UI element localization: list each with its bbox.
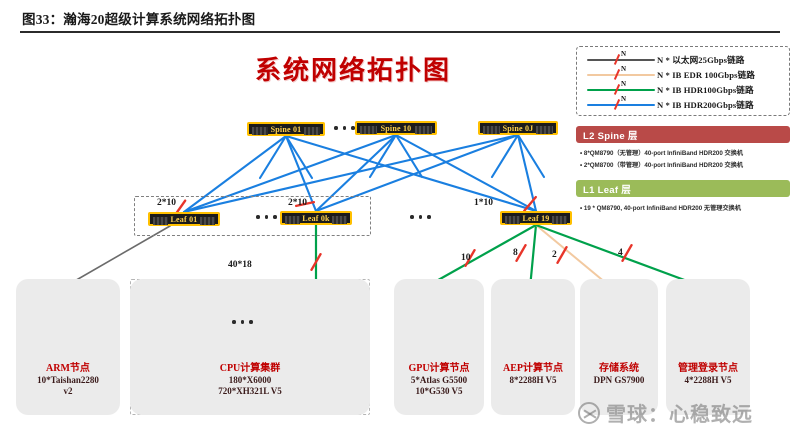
link-count-4: 4 xyxy=(618,248,623,258)
leaf-switch-2[interactable]: Leaf 19 xyxy=(500,211,572,225)
leaf-uplink-count-1: 2*10 xyxy=(288,198,307,208)
aep-group-spec-0: 8*2288H V5 xyxy=(491,375,575,386)
arm-group-spec-0: 10*Taishan2280 xyxy=(16,375,120,386)
spine2-to-leaf2 xyxy=(518,135,536,211)
spine-switch-2[interactable]: Spine 0J xyxy=(478,121,558,135)
gpu-group-label: GPU计算节点5*Atlas G550010*G530 V5 xyxy=(394,363,484,397)
legend-label-0: N * 以太网25Gbps链路 xyxy=(657,54,744,66)
legend-line-swatch-2: N xyxy=(583,82,657,97)
legend-row-1: NN * IB EDR 100Gbps链路 xyxy=(583,67,783,82)
leaf-switch-label-2: Leaf 19 xyxy=(523,214,550,223)
link-count-slash xyxy=(558,247,567,263)
l1-leaf-line-0: • 19 * QM8790, 40-port InfiniBand HDR200… xyxy=(580,203,741,212)
leaf-switch-1[interactable]: Leaf 0k xyxy=(280,211,352,225)
diagram-title: 系统网络拓扑图 xyxy=(255,50,451,87)
cpu-group-title: CPU计算集群 xyxy=(130,363,370,375)
mgmt-group-spec-0: 4*2288H V5 xyxy=(666,375,750,386)
link-count-slash xyxy=(524,197,536,211)
arm-group-label: ARM节点10*Taishan2280v2 xyxy=(16,363,120,397)
cpu-cluster-ellipsis xyxy=(232,320,253,324)
arm-group-spec-1: v2 xyxy=(16,386,120,397)
watermark-text: 雪球：心稳致远 xyxy=(606,398,753,426)
gpu-group-spec-1: 10*G530 V5 xyxy=(394,386,484,397)
legend-line-swatch-3: N xyxy=(583,97,657,112)
l1-leaf-header: L1 Leaf 层 xyxy=(576,180,790,197)
legend-label-2: N * IB HDR100Gbps链路 xyxy=(657,84,754,96)
link-count-slash xyxy=(312,254,321,270)
spine-switch-label-0: Spine 01 xyxy=(271,125,302,134)
row-ellipsis-1 xyxy=(256,215,277,219)
watermark: 雪球：心稳致远 xyxy=(578,398,753,426)
spine-switch-label-2: Spine 0J xyxy=(503,124,534,133)
leaf-switch-0[interactable]: Leaf 01 xyxy=(148,212,220,226)
cpu-group-spec-0: 180*X6000 xyxy=(130,375,370,386)
link-count-40x18: 40*18 xyxy=(228,260,252,270)
legend-label-3: N * IB HDR200Gbps链路 xyxy=(657,99,754,111)
spine1-fan-r xyxy=(396,135,422,177)
arm-group-title: ARM节点 xyxy=(16,363,120,375)
figure-caption: 图33：瀚海20超级计算系统网络拓扑图 xyxy=(22,8,255,28)
legend-row-2: NN * IB HDR100Gbps链路 xyxy=(583,82,783,97)
legend-row-3: NN * IB HDR200Gbps链路 xyxy=(583,97,783,112)
storage-group-spec-0: DPN GS7900 xyxy=(580,375,658,386)
l2-spine-header: L2 Spine 层 xyxy=(576,126,790,143)
leaf-uplink-count-0: 2*10 xyxy=(157,198,176,208)
legend-panel: NN * 以太网25Gbps链路NN * IB EDR 100Gbps链路NN … xyxy=(576,46,790,116)
link-count-2: 2 xyxy=(552,250,557,260)
leaf-switch-label-1: Leaf 0k xyxy=(302,214,329,223)
cpu-group-label: CPU计算集群180*X6000720*XH321L V5 xyxy=(130,363,370,397)
spine1-fan-l xyxy=(370,135,396,177)
link-count-slash xyxy=(623,245,632,261)
gpu-group-spec-0: 5*Atlas G5500 xyxy=(394,375,484,386)
link-count-10: 10 xyxy=(461,253,471,263)
spine-switch-0[interactable]: Spine 01 xyxy=(247,122,325,136)
legend-label-1: N * IB EDR 100Gbps链路 xyxy=(657,69,755,81)
watermark-logo-icon xyxy=(578,402,600,424)
spine-switch-label-1: Spine 10 xyxy=(381,124,412,133)
storage-group-label: 存储系统DPN GS7900 xyxy=(580,363,658,386)
cpu-group-spec-1: 720*XH321L V5 xyxy=(130,386,370,397)
leaf-uplink-count-2: 1*10 xyxy=(474,198,493,208)
aep-group xyxy=(491,279,575,415)
mgmt-group-title: 管理登录节点 xyxy=(666,363,750,375)
storage-group xyxy=(580,279,658,415)
aep-group-title: AEP计算节点 xyxy=(491,363,575,375)
spine0-fan-l xyxy=(260,136,286,178)
spine0-fan-r xyxy=(286,136,312,178)
legend-line-swatch-1: N xyxy=(583,67,657,82)
spine1-to-leaf2 xyxy=(396,135,536,211)
storage-group-title: 存储系统 xyxy=(580,363,658,375)
legend-row-0: NN * 以太网25Gbps链路 xyxy=(583,52,783,67)
spine2-fan-r xyxy=(518,135,544,177)
mgmt-group-label: 管理登录节点4*2288H V5 xyxy=(666,363,750,386)
link-count-8: 8 xyxy=(513,248,518,258)
row-ellipsis-2 xyxy=(410,215,431,219)
row-ellipsis-0 xyxy=(334,126,355,130)
figure-canvas: 图33：瀚海20超级计算系统网络拓扑图 系统网络拓扑图 Spine 01Spin… xyxy=(0,0,800,426)
l2-spine-line-0: • 8*QM8790（无管理）40-port InfiniBand HDR200… xyxy=(580,148,743,157)
caption-divider xyxy=(20,31,780,33)
gpu-group-title: GPU计算节点 xyxy=(394,363,484,375)
legend-line-swatch-0: N xyxy=(583,52,657,67)
leaf-switch-label-0: Leaf 01 xyxy=(171,215,198,224)
aep-group-label: AEP计算节点8*2288H V5 xyxy=(491,363,575,386)
l2-spine-line-1: • 2*QM8700（带管理）40-port InfiniBand HDR200… xyxy=(580,160,743,169)
spine2-fan-l xyxy=(492,135,518,177)
mgmt-group xyxy=(666,279,750,415)
spine-switch-1[interactable]: Spine 10 xyxy=(355,121,437,135)
